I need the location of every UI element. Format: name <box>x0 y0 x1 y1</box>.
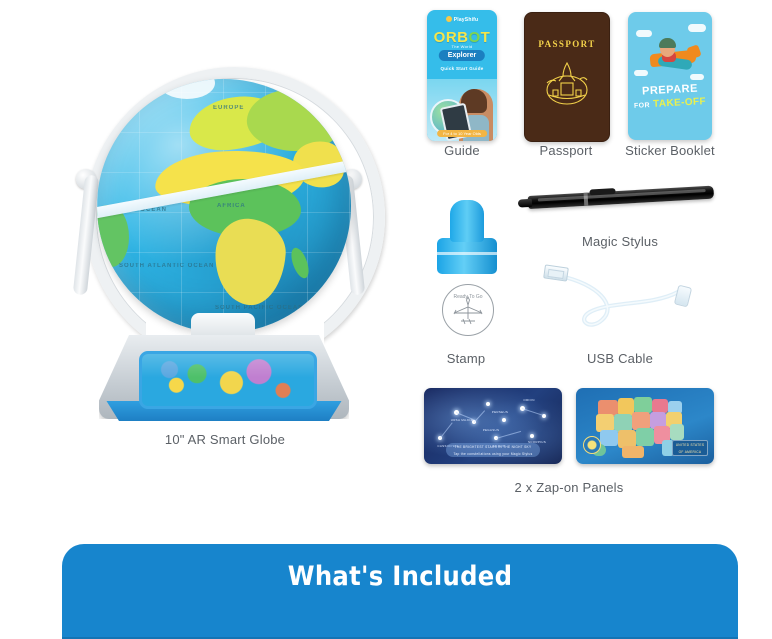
constellation-caption-pill: THE BRIGHTEST STARS IN THE NIGHT SKY Tap… <box>446 443 540 457</box>
usa-map-badge: UNITED STATES OF AMERICA <box>672 440 708 456</box>
constellation-line-icon <box>496 431 521 439</box>
product-passport[interactable]: PASSPORT <box>524 12 610 142</box>
passport-emblem-icon <box>540 57 594 111</box>
plane-tail-icon <box>686 44 701 59</box>
star-icon <box>530 434 534 438</box>
usa-badge-line-2: OF AMERICA <box>673 448 707 455</box>
playshifu-logo-dot-icon <box>446 16 452 22</box>
sticker-cloud-icon <box>634 70 648 76</box>
label-magic-stylus: Magic Stylus <box>535 234 705 249</box>
constellation-line-icon <box>440 422 453 438</box>
globe-base-world-map-panel-icon <box>139 351 317 409</box>
usa-state-shape-icon <box>600 430 618 446</box>
stamp-handle-icon <box>450 200 484 242</box>
label-usb-cable: USB Cable <box>540 351 700 366</box>
stylus-tip-icon <box>518 199 532 208</box>
label-zap-on-panels: 2 x Zap-on Panels <box>469 480 669 495</box>
guide-cover-photo: For 4 to 10 Year Olds <box>427 79 497 141</box>
stylus-pen-icon <box>528 186 714 209</box>
star-icon <box>486 402 490 406</box>
whats-included-title: What's Included <box>62 561 738 592</box>
globe-label-africa: AFRICA <box>217 203 246 209</box>
star-icon <box>502 418 506 422</box>
stylus-highlight-icon <box>538 189 706 201</box>
guide-cover-subtitle: Quick Start Guide <box>427 66 497 71</box>
whats-included-page: EUROPE AFRICA ASIA INDIAN OCEAN SOUTH AT… <box>0 0 772 630</box>
usa-state-shape-icon <box>636 428 654 446</box>
sticker-cloud-icon <box>636 30 652 37</box>
globe-label-europe: EUROPE <box>213 105 244 111</box>
usa-map-panel[interactable]: UNITED STATES OF AMERICA <box>576 388 714 464</box>
constellation-panel[interactable]: CASSIOPEIA URSA MAJOR PERSEUS PEGASUS OR… <box>424 388 562 464</box>
passport-cover-title: PASSPORT <box>525 39 609 49</box>
compass-rose-icon <box>583 436 601 454</box>
globe-label-south-atlantic: SOUTH ATLANTIC OCEAN <box>119 263 214 269</box>
usa-state-shape-icon <box>622 446 644 458</box>
product-magic-stylus[interactable] <box>528 188 714 228</box>
sticker-airplane-icon <box>644 40 698 70</box>
globe-label-south-pacific: SOUTH PACIFIC OCEAN <box>215 305 304 311</box>
label-stamp: Stamp <box>416 351 516 366</box>
stamp-base-icon <box>437 238 497 274</box>
sticker-cloud-icon <box>688 24 706 32</box>
whats-included-banner: What's Included <box>62 544 738 639</box>
constellation-caption-line-1: THE BRIGHTEST STARS IN THE NIGHT SKY <box>446 443 540 450</box>
svg-text:Ready To Go: Ready To Go <box>453 294 482 300</box>
product-zap-on-panels[interactable]: CASSIOPEIA URSA MAJOR PERSEUS PEGASUS OR… <box>424 388 714 468</box>
stamp-seam-icon <box>437 252 497 255</box>
usa-state-shape-icon <box>652 399 668 413</box>
product-stamp[interactable]: Ready To Go <box>428 198 504 338</box>
stamp-impression-icon: Ready To Go <box>442 284 494 336</box>
product-sticker-booklet[interactable]: PREPARE FOR TAKE-OFF <box>628 12 712 140</box>
plane-pilot-helmet-icon <box>659 38 676 48</box>
usa-state-shape-icon <box>634 397 652 413</box>
constellation-label: URSA MAJOR <box>444 418 480 422</box>
sticker-cloud-icon <box>690 74 704 80</box>
label-ar-smart-globe: 10" AR Smart Globe <box>125 432 325 447</box>
constellation-line-icon <box>522 408 543 416</box>
usa-state-shape-icon <box>670 424 684 440</box>
playshifu-brand-text: PlayShifu <box>454 17 479 23</box>
constellation-label: ORION <box>512 398 546 402</box>
usa-badge-line-1: UNITED STATES <box>673 441 707 448</box>
guide-cover-footer: For 4 to 10 Year Olds <box>437 130 487 137</box>
guide-cover-badge: Explorer <box>439 50 485 61</box>
constellation-label: PEGASUS <box>476 428 506 432</box>
sticker-headline-line-2: FOR TAKE-OFF <box>628 96 712 111</box>
globe-sphere-icon: EUROPE AFRICA ASIA INDIAN OCEAN SOUTH AT… <box>97 79 351 333</box>
guide-cover-tagline: The World <box>427 44 497 49</box>
constellation-caption-line-2: Tap the constellations using your Magic … <box>446 450 540 457</box>
label-guide: Guide <box>412 143 512 158</box>
product-usb-cable[interactable] <box>540 262 702 342</box>
constellation-label: PERSEUS <box>482 410 518 414</box>
product-ar-smart-globe[interactable]: EUROPE AFRICA ASIA INDIAN OCEAN SOUTH AT… <box>55 25 395 425</box>
product-guide[interactable]: PlayShifu ORBOT The World Explorer Quick… <box>427 10 497 141</box>
label-sticker-booklet: Sticker Booklet <box>600 143 740 158</box>
playshifu-logo: PlayShifu <box>427 16 497 23</box>
